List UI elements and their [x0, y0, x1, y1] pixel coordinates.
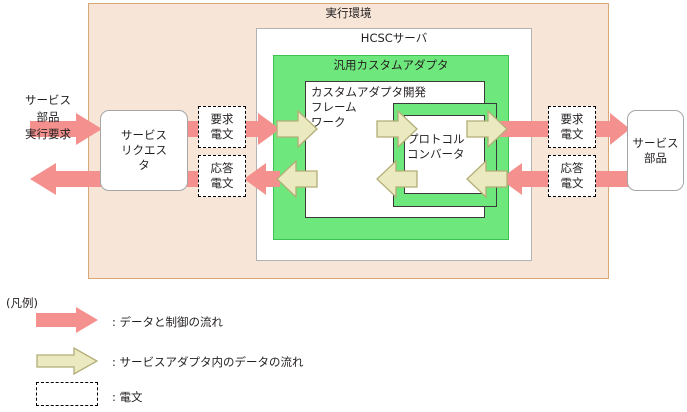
pink-arrow-request-into-adapter	[244, 113, 280, 145]
service-requester-line1: サービス	[121, 128, 167, 143]
request-telegram-right: 要求 電文	[548, 106, 596, 148]
cream-arrow-entry-to-converter	[466, 160, 508, 198]
service-requester-box: サービス リクエス タ	[100, 110, 188, 191]
response-telegram-left-line1: 応答	[211, 161, 234, 176]
legend-title: (凡例)	[6, 296, 38, 310]
dashed-box-icon	[36, 382, 98, 406]
request-telegram-right-line1: 要求	[561, 112, 584, 127]
hcsc-server-label: HCSCサーバ	[256, 31, 532, 45]
legend-label-telegram: : 電文	[112, 390, 143, 404]
request-telegram-left: 要求 電文	[198, 106, 246, 148]
response-telegram-left-line2: 電文	[211, 176, 234, 191]
external-label-line1: サービス	[2, 92, 94, 109]
cream-arrow-into-framework	[276, 110, 318, 148]
response-telegram-right-line1: 応答	[561, 161, 584, 176]
pink-arrow-request-into-service-component	[594, 113, 630, 145]
pink-bar-service-component-to-response-telegram	[594, 171, 630, 187]
generic-custom-adapter-label: 汎用カスタムアダプタ	[273, 58, 509, 72]
cream-arrow-right-icon	[36, 347, 98, 375]
external-label-line2: 部品	[2, 109, 94, 126]
response-telegram-right-line2: 電文	[561, 176, 584, 191]
request-telegram-left-line2: 電文	[211, 127, 234, 142]
cream-arrow-converter-to-exit	[466, 110, 508, 148]
dev-framework-label-line1: カスタムアダプタ開発	[311, 85, 483, 100]
service-component-line1: サービス	[633, 136, 679, 151]
service-component-line2: 部品	[633, 151, 679, 166]
pink-arrow-response-to-response-telegram	[244, 163, 280, 195]
pink-arrow-right-icon	[36, 307, 98, 333]
service-requester-line3: タ	[121, 158, 167, 173]
request-telegram-right-line2: 電文	[561, 127, 584, 142]
cream-arrow-out-of-protocol-converter	[376, 160, 418, 198]
external-label-line3: 実行要求	[2, 126, 94, 143]
legend-label-adapter-internal-flow: : サービスアダプタ内のデータの流れ	[112, 355, 304, 369]
cream-arrow-out-of-framework	[276, 160, 318, 198]
response-telegram-left: 応答 電文	[198, 155, 246, 197]
response-telegram-right: 応答 電文	[548, 155, 596, 197]
execution-environment-label: 実行環境	[88, 6, 609, 20]
service-component-box: サービス 部品	[627, 110, 684, 191]
request-telegram-left-line1: 要求	[211, 112, 234, 127]
pink-arrow-response-out-of-requester	[30, 163, 102, 195]
service-requester-line2: リクエス	[121, 143, 167, 158]
legend-label-data-control-flow: : データと制御の流れ	[112, 315, 223, 329]
cream-arrow-into-protocol-converter	[376, 110, 418, 148]
service-component-execution-request-label: サービス 部品 実行要求	[2, 92, 94, 143]
